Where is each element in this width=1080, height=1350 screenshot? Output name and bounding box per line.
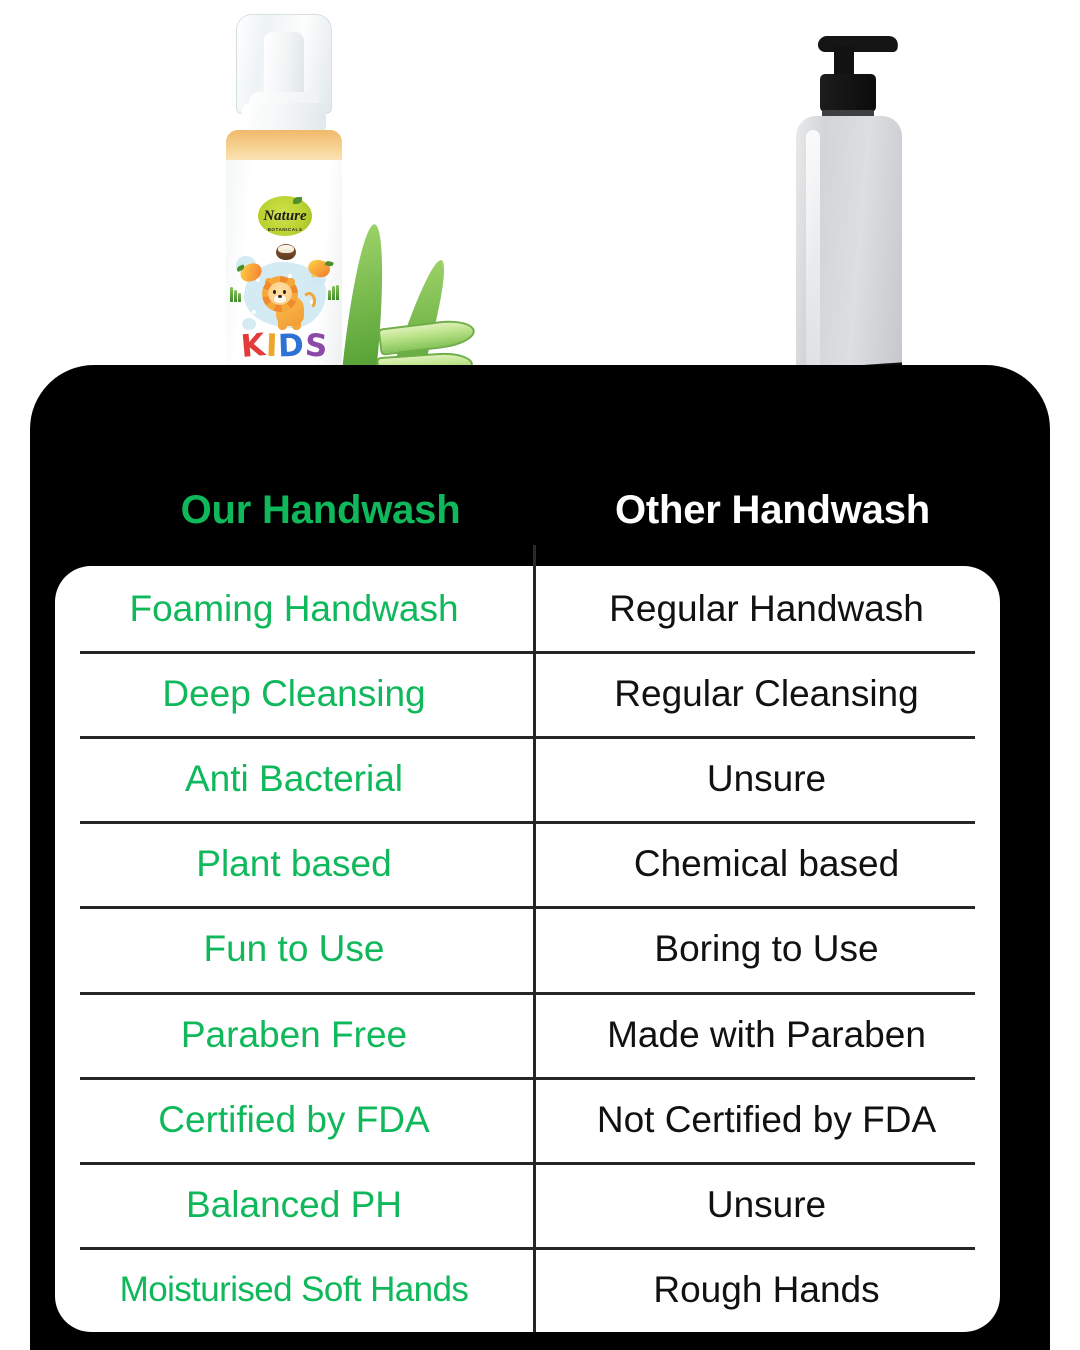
lion-icon: [260, 272, 312, 330]
pump-dispenser-icon: [817, 36, 899, 52]
cell-our-handwash: Foaming Handwash: [55, 566, 533, 651]
cell-our-handwash: Anti Bacterial: [55, 736, 533, 821]
table-row: Foaming HandwashRegular Handwash: [55, 566, 1000, 651]
leaf-icon: [293, 197, 302, 204]
cell-other-handwash: Not Certified by FDA: [533, 1077, 1000, 1162]
brand-logo: Nature BOTANICALS: [258, 196, 312, 236]
cell-other-handwash: Rough Hands: [533, 1247, 1000, 1332]
wordmark-letter: D: [278, 332, 305, 362]
table-row: Paraben FreeMade with Paraben: [55, 992, 1000, 1077]
table-body: Foaming HandwashRegular HandwashDeep Cle…: [55, 566, 1000, 1332]
comparison-table: Foaming HandwashRegular HandwashDeep Cle…: [55, 566, 1000, 1332]
table-row: Moisturised Soft HandsRough Hands: [55, 1247, 1000, 1332]
cell-other-handwash: Unsure: [533, 1162, 1000, 1247]
table-row: Deep CleansingRegular Cleansing: [55, 651, 1000, 736]
brand-name: Nature: [263, 209, 306, 224]
cell-our-handwash: Moisturised Soft Hands: [55, 1247, 533, 1332]
cell-our-handwash: Certified by FDA: [55, 1077, 533, 1162]
wordmark-letter: S: [304, 331, 328, 362]
header-other-handwash: Other Handwash: [535, 488, 1010, 533]
cell-our-handwash: Plant based: [55, 821, 533, 906]
cell-our-handwash: Deep Cleansing: [55, 651, 533, 736]
cell-other-handwash: Boring to Use: [533, 906, 1000, 991]
cell-other-handwash: Regular Cleansing: [533, 651, 1000, 736]
comparison-headers: Our Handwash Other Handwash: [30, 488, 1050, 550]
table-row: Certified by FDANot Certified by FDA: [55, 1077, 1000, 1162]
cell-our-handwash: Fun to Use: [55, 906, 533, 991]
table-row: Anti BacterialUnsure: [55, 736, 1000, 821]
cell-other-handwash: Unsure: [533, 736, 1000, 821]
cell-other-handwash: Chemical based: [533, 821, 1000, 906]
table-row: Fun to UseBoring to Use: [55, 906, 1000, 991]
cell-other-handwash: Made with Paraben: [533, 992, 1000, 1077]
wordmark-letter: I: [265, 332, 278, 362]
header-our-handwash: Our Handwash: [108, 488, 533, 533]
column-divider: [533, 566, 536, 1332]
cell-other-handwash: Regular Handwash: [533, 566, 1000, 651]
kids-wordmark: K I D S: [232, 332, 336, 361]
table-row: Balanced PHUnsure: [55, 1162, 1000, 1247]
cell-our-handwash: Balanced PH: [55, 1162, 533, 1247]
grass-icon: [230, 286, 242, 302]
table-row: Plant basedChemical based: [55, 821, 1000, 906]
coconut-icon: [276, 244, 296, 260]
comparison-infographic: Nature BOTANICALS: [0, 0, 1080, 1350]
wordmark-letter: K: [239, 331, 266, 362]
grass-icon: [328, 284, 340, 300]
cell-our-handwash: Paraben Free: [55, 992, 533, 1077]
brand-subtitle: BOTANICALS: [258, 227, 312, 232]
